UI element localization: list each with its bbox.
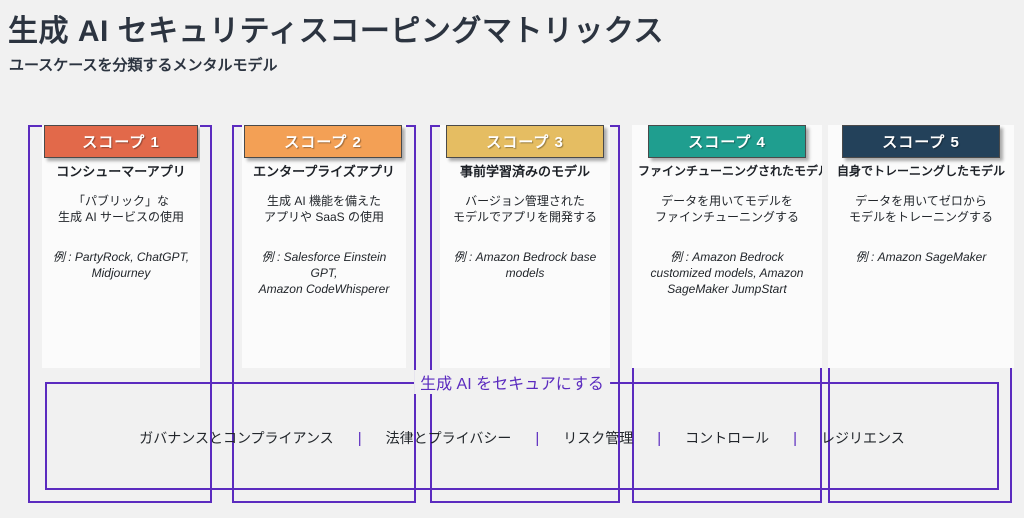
- scope-badge-5: スコープ 5: [842, 125, 1000, 158]
- scope-name-4: ファインチューニングされたモデル: [638, 163, 816, 180]
- scope-example-2: 例 : Salesforce Einstein GPT,Amazon CodeW…: [248, 249, 400, 297]
- scope-body-5: 自身でトレーニングしたモデル データを用いてゼロからモデルをトレーニングする 例…: [828, 163, 1014, 265]
- scope-example-4: 例 : Amazon Bedrockcustomized models, Ama…: [638, 249, 816, 297]
- scope-badge-label-1: スコープ 1: [82, 134, 160, 151]
- scope-badge-2: スコープ 2: [244, 125, 402, 158]
- scope-card-1[interactable]: スコープ 1 コンシューマーアプリ 「パブリック」な生成 AI サービスの使用 …: [42, 125, 200, 368]
- diagram-canvas: 生成 AI セキュリティスコーピングマトリックス ユースケースを分類するメンタル…: [0, 0, 1024, 518]
- scope-badge-4: スコープ 4: [648, 125, 806, 158]
- scope-card-4[interactable]: スコープ 4 ファインチューニングされたモデル データを用いてモデルをファインチ…: [632, 125, 822, 368]
- secure-genai-item-legal-privacy[interactable]: 法律とプライバシー: [375, 428, 523, 448]
- item-separator-4: |: [780, 431, 810, 446]
- scope-badge-3: スコープ 3: [446, 125, 604, 158]
- secure-genai-item-list: ガバナンスとコンプライアンス | 法律とプライバシー | リスク管理 | コント…: [45, 425, 999, 451]
- scope-example-1: 例 : PartyRock, ChatGPT,Midjourney: [48, 249, 194, 281]
- scope-body-4: ファインチューニングされたモデル データを用いてモデルをファインチューニングする…: [632, 163, 822, 297]
- scope-description-1: 「パブリック」な生成 AI サービスの使用: [48, 193, 194, 225]
- item-separator-3: |: [644, 431, 674, 446]
- secure-genai-item-resilience[interactable]: レジリエンス: [810, 428, 916, 448]
- scope-description-5: データを用いてゼロからモデルをトレーニングする: [834, 193, 1008, 225]
- scope-body-1: コンシューマーアプリ 「パブリック」な生成 AI サービスの使用 例 : Par…: [42, 163, 200, 281]
- scope-example-5: 例 : Amazon SageMaker: [834, 249, 1008, 265]
- scope-card-3[interactable]: スコープ 3 事前学習済みのモデル バージョン管理されたモデルでアプリを開発する…: [440, 125, 610, 368]
- page-subtitle: ユースケースを分類するメンタルモデル: [9, 54, 278, 75]
- scope-badge-label-5: スコープ 5: [882, 134, 960, 151]
- secure-genai-title: 生成 AI をセキュアにする: [414, 370, 610, 394]
- scope-description-3: バージョン管理されたモデルでアプリを開発する: [446, 193, 604, 225]
- scope-badge-label-3: スコープ 3: [486, 134, 564, 151]
- scope-card-5[interactable]: スコープ 5 自身でトレーニングしたモデル データを用いてゼロからモデルをトレー…: [828, 125, 1014, 368]
- scope-name-3: 事前学習済みのモデル: [446, 163, 604, 180]
- scope-body-3: 事前学習済みのモデル バージョン管理されたモデルでアプリを開発する 例 : Am…: [440, 163, 610, 281]
- scope-card-2[interactable]: スコープ 2 エンタープライズアプリ 生成 AI 機能を備えたアプリや SaaS…: [242, 125, 406, 368]
- item-separator-2: |: [522, 431, 552, 446]
- scope-name-2: エンタープライズアプリ: [248, 163, 400, 180]
- secure-genai-item-governance[interactable]: ガバナンスとコンプライアンス: [128, 428, 344, 448]
- scope-badge-1: スコープ 1: [44, 125, 198, 158]
- scope-description-2: 生成 AI 機能を備えたアプリや SaaS の使用: [248, 193, 400, 225]
- scope-description-4: データを用いてモデルをファインチューニングする: [638, 193, 816, 225]
- scope-name-5: 自身でトレーニングしたモデル: [834, 163, 1008, 180]
- scope-example-3: 例 : Amazon Bedrock basemodels: [446, 249, 604, 281]
- scope-body-2: エンタープライズアプリ 生成 AI 機能を備えたアプリや SaaS の使用 例 …: [242, 163, 406, 297]
- secure-genai-item-risk-management[interactable]: リスク管理: [552, 428, 644, 448]
- secure-genai-item-controls[interactable]: コントロール: [674, 428, 780, 448]
- scope-name-1: コンシューマーアプリ: [48, 163, 194, 180]
- page-title: 生成 AI セキュリティスコーピングマトリックス: [8, 6, 664, 50]
- item-separator-1: |: [345, 431, 375, 446]
- scope-badge-label-2: スコープ 2: [284, 134, 362, 151]
- scope-badge-label-4: スコープ 4: [688, 134, 766, 151]
